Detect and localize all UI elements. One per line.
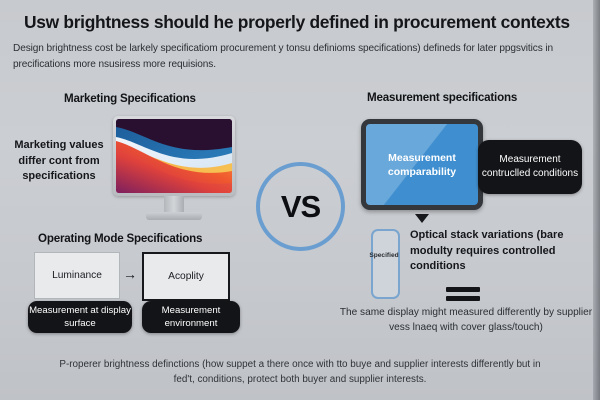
monitor-bezel bbox=[113, 116, 235, 196]
op-box-acoplity: Acoplity bbox=[142, 252, 230, 301]
op-box-luminance: Luminance bbox=[34, 252, 120, 299]
desktop-monitor-illustration bbox=[113, 116, 235, 223]
arrow-right-icon: → bbox=[120, 266, 140, 282]
measurement-note: The same display might measured differen… bbox=[333, 306, 599, 335]
section-heading-measurement: Measurement specifications bbox=[367, 91, 517, 104]
monitor-base bbox=[146, 212, 202, 220]
specified-label: Specified bbox=[358, 252, 410, 259]
down-triangle-icon bbox=[415, 214, 429, 223]
optical-stack-text: Optical stack variations (bare modulty r… bbox=[410, 228, 600, 275]
tablet-label-line-2: comparability bbox=[388, 165, 456, 179]
badge-measurement-environment: Measurement environment bbox=[142, 301, 240, 333]
tablet-label-line-1: Measurement bbox=[388, 151, 456, 165]
marketing-callout-text: Marketing values differ cont from specif… bbox=[6, 138, 112, 185]
tablet-screen-label: Measurement comparability bbox=[366, 124, 478, 205]
tablet-screen: Measurement comparability bbox=[366, 124, 478, 205]
monitor-stand bbox=[164, 196, 184, 212]
footer-text: P-roperer brightness definctions (how su… bbox=[48, 358, 552, 387]
page-subtitle: Design brightness cost be larkely specif… bbox=[13, 41, 591, 72]
monitor-screen bbox=[116, 119, 232, 193]
infographic-canvas: Usw brightness should he properly define… bbox=[0, 0, 600, 400]
equals-icon bbox=[446, 287, 480, 305]
badge-measurement-controlled-conditions: Measurement contruclled conditions bbox=[478, 140, 582, 194]
vs-label: VS bbox=[256, 162, 345, 251]
page-title: Usw brightness should he properly define… bbox=[24, 12, 584, 33]
wallpaper-graphic bbox=[116, 119, 232, 193]
section-heading-operating-mode: Operating Mode Specifications bbox=[38, 232, 202, 245]
tablet-illustration: Measurement comparability bbox=[361, 119, 483, 210]
right-edge-shade bbox=[593, 0, 600, 400]
section-heading-marketing: Marketing Specifications bbox=[64, 92, 196, 105]
bare-module-illustration bbox=[371, 229, 400, 299]
badge-measurement-at-display-surface: Measurement at display surface bbox=[28, 301, 132, 333]
